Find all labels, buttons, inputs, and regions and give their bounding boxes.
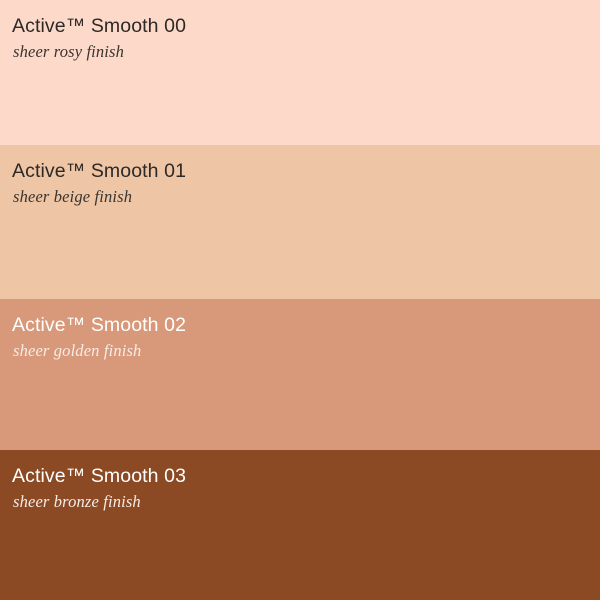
swatch-band-00[interactable]: Active™ Smooth 00 sheer rosy finish — [0, 0, 600, 145]
swatch-title: Active™ Smooth 00 — [12, 13, 600, 39]
swatch-subtitle: sheer bronze finish — [13, 491, 600, 513]
swatch-title: Active™ Smooth 03 — [12, 463, 600, 489]
swatch-title: Active™ Smooth 01 — [12, 158, 600, 184]
swatch-band-03[interactable]: Active™ Smooth 03 sheer bronze finish — [0, 450, 600, 600]
swatch-subtitle: sheer beige finish — [13, 186, 600, 208]
swatch-title: Active™ Smooth 02 — [12, 312, 600, 338]
swatch-subtitle: sheer golden finish — [13, 340, 600, 362]
swatch-subtitle: sheer rosy finish — [13, 41, 600, 63]
swatch-band-02[interactable]: Active™ Smooth 02 sheer golden finish — [0, 299, 600, 450]
swatch-band-01[interactable]: Active™ Smooth 01 sheer beige finish — [0, 145, 600, 299]
swatch-stack: Active™ Smooth 00 sheer rosy finish Acti… — [0, 0, 600, 600]
